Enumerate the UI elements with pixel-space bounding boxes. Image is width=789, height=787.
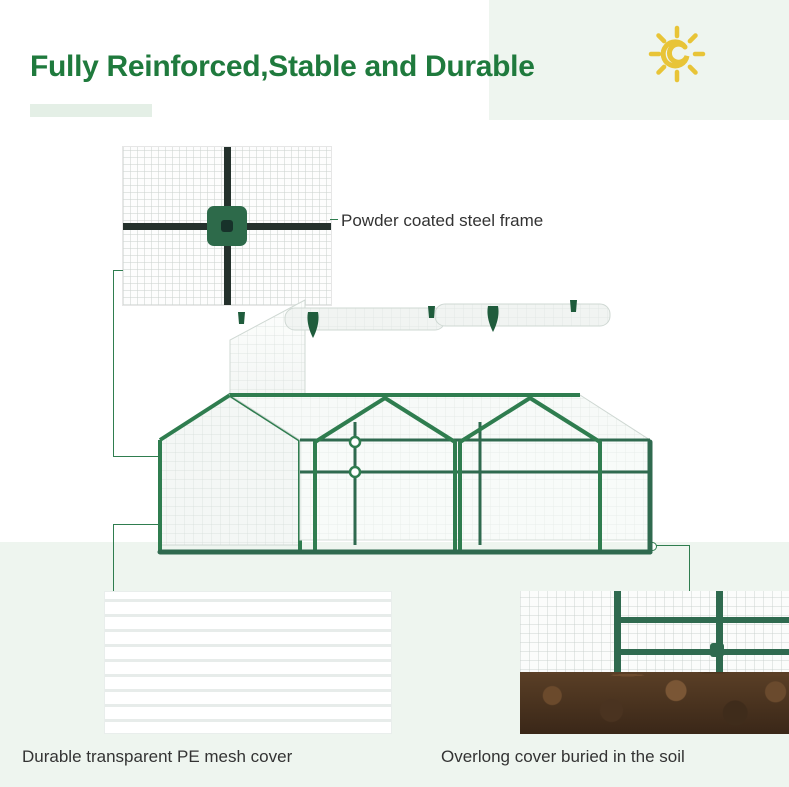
greenhouse-front-panel <box>300 440 650 540</box>
soil-inset-joint <box>710 643 724 657</box>
poster-canvas: Fully Reinforced,Stable and Durable Powd… <box>0 0 789 787</box>
leader-line-frame-top <box>113 270 123 271</box>
leader-line-frame-label <box>330 219 338 220</box>
title-underline-accent <box>30 104 152 117</box>
mini-greenhouse-illustration <box>130 290 690 590</box>
pe-mesh-cover-closeup <box>104 591 392 734</box>
page-title: Fully Reinforced,Stable and Durable <box>30 50 535 84</box>
leader-line-frame-vertical <box>113 270 114 456</box>
greenhouse-window-flaps <box>285 304 610 330</box>
sun-icon <box>645 22 709 86</box>
callout-label-frame: Powder coated steel frame <box>341 211 543 231</box>
leader-line-mesh-vertical <box>113 524 114 594</box>
soil-inset-rail-upper <box>614 617 789 623</box>
cover-buried-in-soil-closeup <box>520 591 789 734</box>
powder-coated-steel-frame-closeup <box>122 146 332 306</box>
callout-label-mesh: Durable transparent PE mesh cover <box>22 747 292 767</box>
soil-inset-rail-lower <box>614 649 789 655</box>
soil-inset-ground <box>520 672 789 734</box>
frame-connector-joint <box>207 206 247 246</box>
callout-label-soil: Overlong cover buried in the soil <box>441 747 685 767</box>
